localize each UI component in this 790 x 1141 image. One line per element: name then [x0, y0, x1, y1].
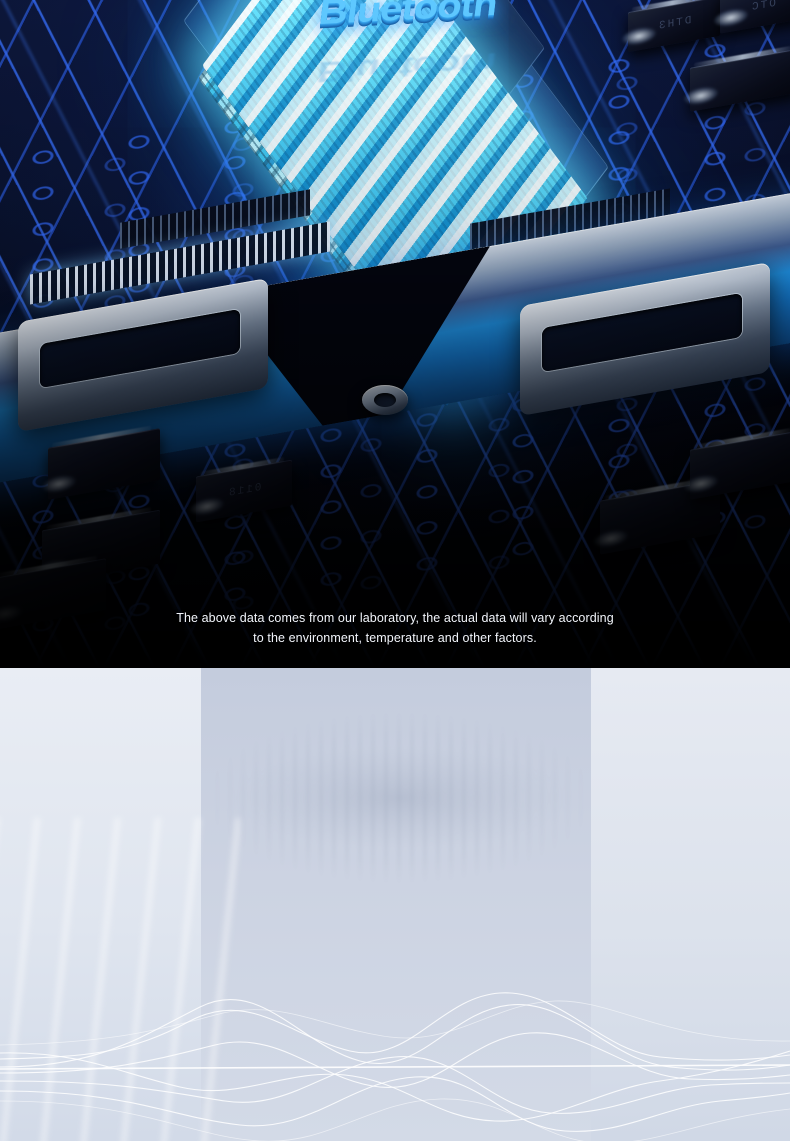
image-vignette: [0, 0, 790, 668]
chip-hero-image: DTH3 OTC Bluetooth Bluetooth: [0, 0, 790, 668]
live-sound-section: Live sound effects Restore the original …: [0, 668, 790, 1141]
disclaimer-line-2: to the environment, temperature and othe…: [0, 628, 790, 648]
disclaimer-caption: The above data comes from our laboratory…: [0, 608, 790, 648]
disclaimer-line-1: The above data comes from our laboratory…: [0, 608, 790, 628]
product-detail-page: DTH3 OTC Bluetooth Bluetooth: [0, 0, 790, 1141]
sound-wave-graphic: [0, 941, 790, 1141]
